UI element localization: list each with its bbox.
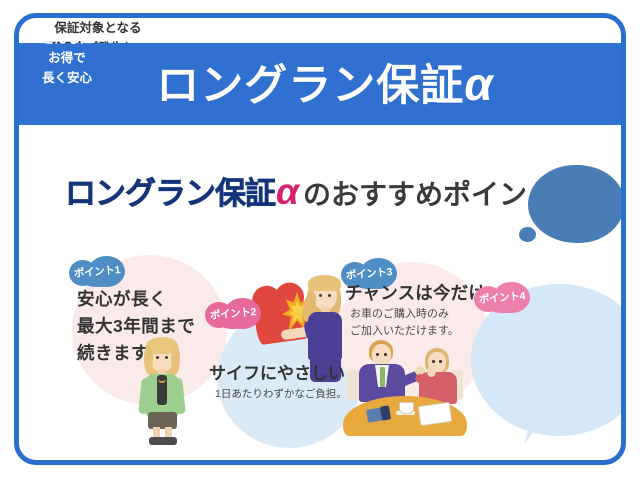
subtitle-alpha: α <box>276 171 299 213</box>
subtitle-brand: ロングラン保証 <box>65 168 275 213</box>
point2-badge-label: ポイント2 <box>204 296 262 332</box>
point4-badge-label: ポイント4 <box>473 280 531 316</box>
page-title-main: ロングラン保証 <box>156 62 464 110</box>
top-bubble-line-2: お得で <box>19 49 115 68</box>
top-speech-bubble <box>528 165 624 243</box>
rounded-frame: ロングラン保証α ロングラン保証 α のおすすめポイント こんなに お得で 長く… <box>14 13 626 465</box>
point2-subtext: 1日あたりわずかなご負担。 <box>215 386 347 401</box>
point4-badge: ポイント4 <box>474 282 530 313</box>
page-title-alpha: α <box>464 58 494 110</box>
point1-badge-label: ポイント1 <box>68 254 126 290</box>
top-bubble-line-1: こんなに <box>19 30 115 49</box>
point2-heading: サイフにやさしい <box>209 363 345 385</box>
subtitle: ロングラン保証 α のおすすめポイント <box>65 168 555 213</box>
point3-subtext: お車のご購入時のみ ご加入いただけます。 <box>350 306 459 339</box>
point1-illustration <box>131 336 193 446</box>
point2-badge: ポイント2 <box>205 298 261 329</box>
top-bubble-line-3: 長く安心 <box>19 69 115 88</box>
point3-illustration <box>343 340 467 436</box>
subtitle-rest: のおすすめポイント <box>303 173 555 213</box>
point1-badge: ポイント1 <box>69 256 125 287</box>
top-speech-bubble-text: こんなに お得で 長く安心 <box>19 30 115 88</box>
point3-heading: チャンスは今だけ <box>345 282 486 305</box>
advertisement-banner: ロングラン保証α ロングラン保証 α のおすすめポイント こんなに お得で 長く… <box>0 0 640 480</box>
page-title: ロングラン保証α <box>156 61 494 108</box>
